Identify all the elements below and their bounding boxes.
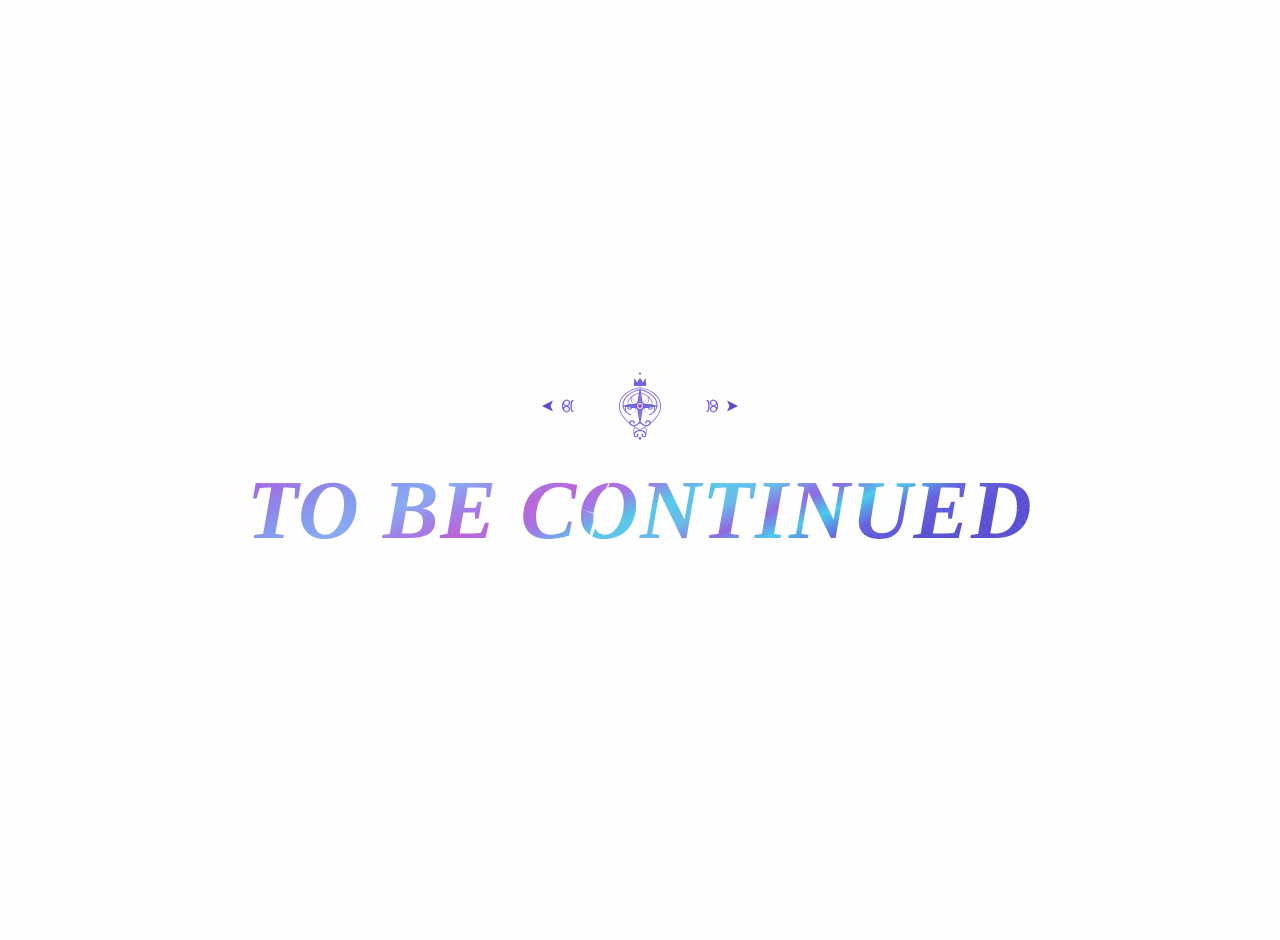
to-be-continued-card: TO BE CONTINUED xyxy=(0,0,1280,940)
divider-left-scroll-icon xyxy=(563,400,579,412)
endcard-screen: TO BE CONTINUED xyxy=(0,0,1280,940)
compass-star-icon xyxy=(623,389,658,424)
divider-left-arrow-icon xyxy=(542,401,562,412)
divider-right-scroll-icon xyxy=(702,400,718,412)
divider-center-medallion-icon xyxy=(619,373,660,440)
divider-right-arrow-icon xyxy=(718,401,738,412)
headline-container: TO BE CONTINUED xyxy=(0,460,1280,570)
ornamental-flourish-divider xyxy=(540,370,740,442)
acanthus-flourish-icon xyxy=(630,421,650,440)
page-title: TO BE CONTINUED xyxy=(247,464,1033,557)
crown-icon xyxy=(634,373,647,387)
